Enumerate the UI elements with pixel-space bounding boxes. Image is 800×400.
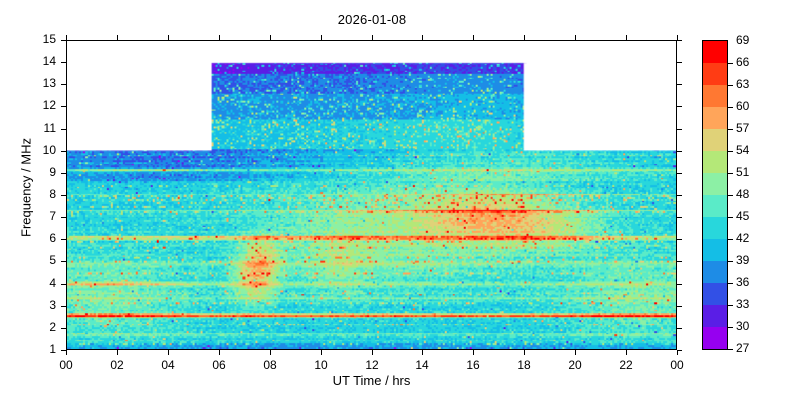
y-axis-tick [61, 173, 66, 174]
x-axis-tick [168, 350, 169, 355]
x-axis-tick [66, 350, 67, 355]
y-axis-tick-right [677, 84, 682, 85]
x-axis-label: 02 [97, 358, 137, 372]
y-axis-tick-right [677, 129, 682, 130]
y-axis-tick [61, 328, 66, 329]
x-axis-label: 00 [46, 358, 86, 372]
x-axis-tick [372, 350, 373, 355]
x-axis-tick [219, 350, 220, 355]
x-axis-tick [422, 350, 423, 355]
colorbar-swatch [703, 195, 727, 218]
x-axis-tick-top [524, 35, 525, 40]
x-axis-label: 10 [301, 358, 341, 372]
y-axis-tick-right [677, 350, 682, 351]
x-axis-label: 08 [250, 358, 290, 372]
colorbar-tick [728, 129, 733, 130]
spectrogram-canvas [67, 41, 676, 349]
x-axis-tick-top [575, 35, 576, 40]
colorbar-tick [728, 305, 733, 306]
colorbar-label: 57 [736, 121, 749, 135]
y-axis-tick-right [677, 328, 682, 329]
x-axis-tick-top [66, 35, 67, 40]
x-axis-tick [117, 350, 118, 355]
x-axis-tick-top [168, 35, 169, 40]
colorbar-swatch [703, 63, 727, 86]
colorbar-label: 51 [736, 165, 749, 179]
y-axis-tick [61, 217, 66, 218]
x-axis-label: 00 [657, 358, 697, 372]
colorbar-swatch [703, 85, 727, 108]
colorbar-label: 45 [736, 209, 749, 223]
x-axis-label: 20 [555, 358, 595, 372]
colorbar-tick [728, 85, 733, 86]
y-axis-tick [61, 261, 66, 262]
y-axis-tick-right [677, 239, 682, 240]
x-axis-tick [270, 350, 271, 355]
y-axis-tick [61, 195, 66, 196]
colorbar-swatch [703, 41, 727, 64]
x-axis-tick-top [422, 35, 423, 40]
colorbar-tick [728, 151, 733, 152]
colorbar-label: 66 [736, 55, 749, 69]
colorbar-swatch [703, 129, 727, 152]
y-axis-tick-right [677, 40, 682, 41]
x-axis-tick-top [321, 35, 322, 40]
colorbar-label: 39 [736, 253, 749, 267]
x-axis-label: 12 [352, 358, 392, 372]
colorbar-label: 33 [736, 297, 749, 311]
colorbar-tick [728, 349, 733, 350]
spectrogram-figure: 2026-01-08 00020406081012141618202200123… [0, 0, 800, 400]
colorbar-tick [728, 239, 733, 240]
colorbar-tick [728, 217, 733, 218]
colorbar-swatch [703, 239, 727, 262]
x-axis-tick [575, 350, 576, 355]
colorbar-label: 27 [736, 341, 749, 355]
y-axis-tick-right [677, 284, 682, 285]
y-axis-tick [61, 284, 66, 285]
y-axis-label: 2 [28, 320, 56, 334]
x-axis-label: 16 [453, 358, 493, 372]
x-axis-tick-top [219, 35, 220, 40]
y-axis-tick-right [677, 62, 682, 63]
x-axis-tick-top [372, 35, 373, 40]
y-axis-tick-right [677, 151, 682, 152]
colorbar-label: 60 [736, 99, 749, 113]
y-axis-tick [61, 40, 66, 41]
y-axis-tick-right [677, 106, 682, 107]
colorbar-tick [728, 195, 733, 196]
x-axis-tick [524, 350, 525, 355]
y-axis-tick-right [677, 173, 682, 174]
y-axis-label: 3 [28, 298, 56, 312]
y-axis-tick-right [677, 195, 682, 196]
y-axis-title: Frequency / MHz [19, 78, 34, 298]
colorbar-swatch [703, 283, 727, 306]
y-axis-tick-right [677, 261, 682, 262]
colorbar-label: 48 [736, 187, 749, 201]
colorbar-tick [728, 283, 733, 284]
y-axis-tick [61, 151, 66, 152]
x-axis-tick [321, 350, 322, 355]
y-axis-label: 15 [28, 32, 56, 46]
colorbar-swatch [703, 327, 727, 350]
x-axis-label: 18 [504, 358, 544, 372]
colorbar-tick [728, 107, 733, 108]
colorbar-swatch [703, 217, 727, 240]
y-axis-tick [61, 106, 66, 107]
colorbar-swatch [703, 107, 727, 130]
y-axis-label: 14 [28, 54, 56, 68]
y-axis-tick [61, 306, 66, 307]
colorbar-label: 42 [736, 231, 749, 245]
x-axis-tick [626, 350, 627, 355]
y-axis-tick-right [677, 306, 682, 307]
y-axis-tick-right [677, 217, 682, 218]
plot-area [66, 40, 677, 350]
x-axis-title: UT Time / hrs [66, 373, 677, 388]
colorbar-label: 30 [736, 319, 749, 333]
x-axis-label: 04 [148, 358, 188, 372]
x-axis-tick-top [473, 35, 474, 40]
colorbar-swatch [703, 173, 727, 196]
x-axis-tick [473, 350, 474, 355]
y-axis-tick [61, 62, 66, 63]
x-axis-label: 22 [606, 358, 646, 372]
colorbar-swatch [703, 305, 727, 328]
colorbar-tick [728, 261, 733, 262]
y-axis-tick [61, 84, 66, 85]
colorbar-tick [728, 63, 733, 64]
y-axis-tick [61, 129, 66, 130]
colorbar-tick [728, 173, 733, 174]
x-axis-label: 14 [402, 358, 442, 372]
x-axis-tick-top [270, 35, 271, 40]
colorbar-label: 69 [736, 33, 749, 47]
x-axis-tick-top [626, 35, 627, 40]
colorbar [702, 40, 728, 350]
colorbar-label: 63 [736, 77, 749, 91]
y-axis-label: 1 [28, 342, 56, 356]
colorbar-tick [728, 327, 733, 328]
x-axis-tick-top [117, 35, 118, 40]
colorbar-label: 36 [736, 275, 749, 289]
colorbar-swatch [703, 261, 727, 284]
colorbar-label: 54 [736, 143, 749, 157]
page-title: 2026-01-08 [66, 12, 678, 27]
colorbar-swatch [703, 151, 727, 174]
x-axis-label: 06 [199, 358, 239, 372]
y-axis-tick [61, 350, 66, 351]
y-axis-tick [61, 239, 66, 240]
